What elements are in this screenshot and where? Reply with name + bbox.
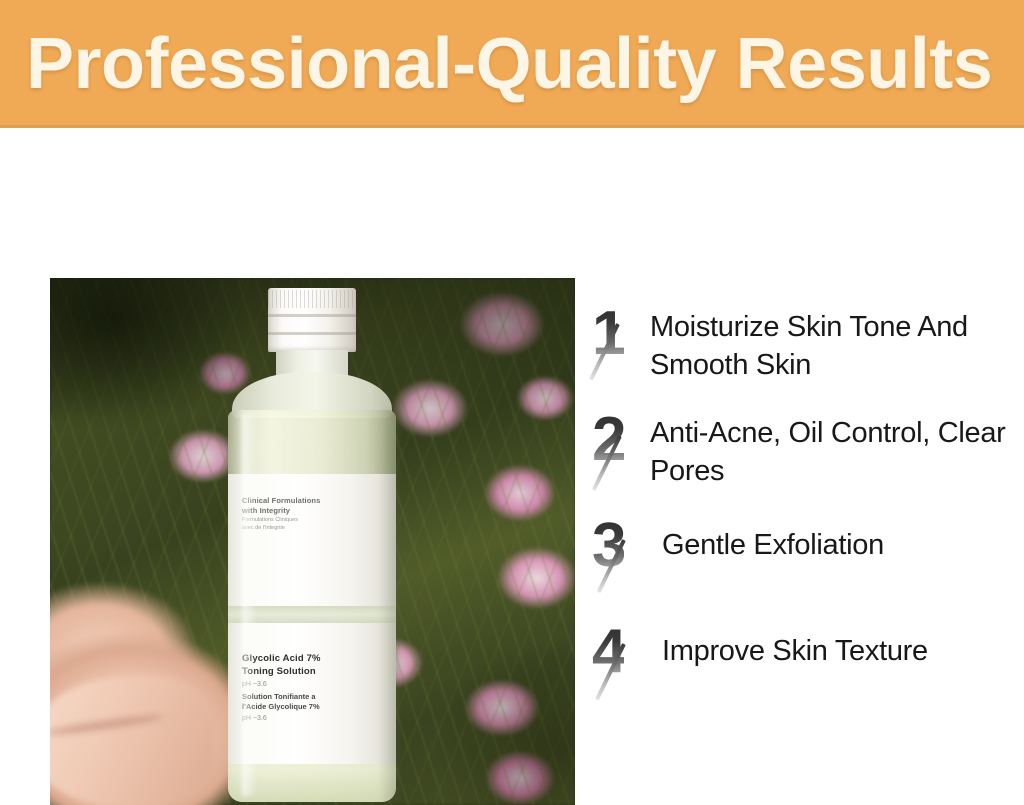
header-banner: Professional-Quality Results xyxy=(0,0,1024,128)
cap-groove-lower xyxy=(268,332,356,335)
benefits-list: 1 Moisturize Skin Tone And Smooth Skin 2… xyxy=(592,300,1024,690)
product-bottle: Clinical Formulations with Integrity For… xyxy=(206,288,421,805)
main-stage: Clinical Formulations with Integrity For… xyxy=(0,128,1024,805)
page-title: Professional-Quality Results xyxy=(26,28,992,100)
cap-ribs xyxy=(268,290,356,308)
benefit-number-1-wrap: 1 xyxy=(592,300,650,372)
benefit-text-1: Moisturize Skin Tone And Smooth Skin xyxy=(650,300,1024,384)
cap-groove-upper xyxy=(268,314,356,317)
bottle-highlight xyxy=(242,414,257,796)
benefit-item-3: 3 Gentle Exfoliation xyxy=(592,512,1024,584)
bottle-cap xyxy=(268,288,356,352)
thumb xyxy=(50,677,215,805)
benefit-item-2: 2 Anti-Acne, Oil Control, Clear Pores xyxy=(592,406,1024,490)
benefit-number-2-wrap: 2 xyxy=(592,406,650,478)
benefit-number-3-wrap: 3 xyxy=(592,512,650,584)
product-photo: Clinical Formulations with Integrity For… xyxy=(50,278,575,805)
benefit-text-2: Anti-Acne, Oil Control, Clear Pores xyxy=(650,406,1024,490)
benefit-number-1: 1 xyxy=(592,300,624,368)
benefit-text-3: Gentle Exfoliation xyxy=(650,512,1024,564)
bottle-shadow xyxy=(379,410,399,802)
benefit-number-4-wrap: 4 xyxy=(592,618,650,690)
benefit-item-1: 1 Moisturize Skin Tone And Smooth Skin xyxy=(592,300,1024,384)
benefit-text-4: Improve Skin Texture xyxy=(650,618,1024,670)
benefit-item-4: 4 Improve Skin Texture xyxy=(592,618,1024,690)
